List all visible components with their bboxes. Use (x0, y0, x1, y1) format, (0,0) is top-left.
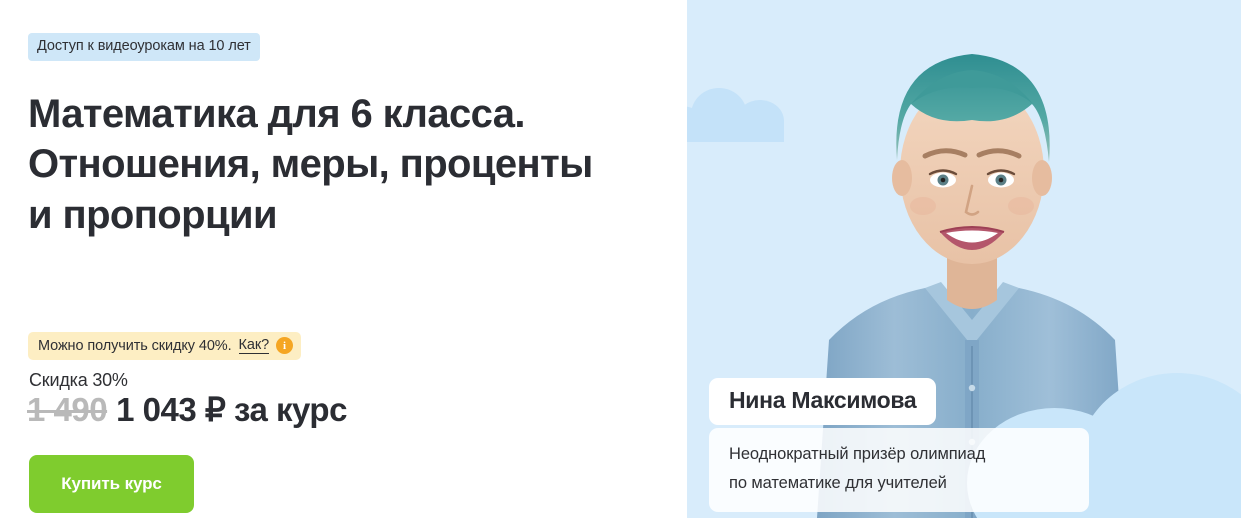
price-row: 1 490 1 043 ₽ за курс (27, 390, 347, 429)
cloud-decoration-top (687, 88, 802, 142)
old-price: 1 490 (27, 391, 107, 429)
title-line-3: и пропорции (28, 190, 648, 240)
discount-how-link[interactable]: Как? (239, 337, 270, 354)
cloud-lobe (1077, 373, 1241, 518)
title-line-1: Математика для 6 класса. (28, 89, 648, 139)
bio-line-1: Неоднократный призёр олимпиад (729, 440, 1069, 469)
title-line-2: Отношения, меры, проценты (28, 139, 648, 189)
course-promo-banner: Доступ к видеоурокам на 10 лет Математик… (0, 0, 1241, 518)
instructor-name-card: Нина Максимова (709, 378, 936, 425)
course-info-column: Доступ к видеоурокам на 10 лет Математик… (0, 0, 687, 518)
discount-percent-label: Скидка 30% (29, 370, 128, 391)
bio-line-2: по математике для учителей (729, 469, 1069, 498)
instructor-panel: Нина Максимова Неоднократный призёр олим… (687, 0, 1241, 518)
buy-course-button[interactable]: Купить курс (29, 455, 194, 513)
discount-offer-text: Можно получить скидку 40%. (38, 338, 232, 354)
current-price: 1 043 ₽ за курс (116, 390, 347, 429)
page-title: Математика для 6 класса. Отношения, меры… (28, 89, 648, 240)
info-icon[interactable]: i (276, 337, 293, 354)
instructor-bio-card: Неоднократный призёр олимпиад по математ… (709, 428, 1089, 512)
access-duration-badge: Доступ к видеоурокам на 10 лет (28, 33, 260, 61)
discount-offer-badge: Можно получить скидку 40%. Как? i (28, 332, 301, 360)
cloud-base (687, 126, 784, 142)
